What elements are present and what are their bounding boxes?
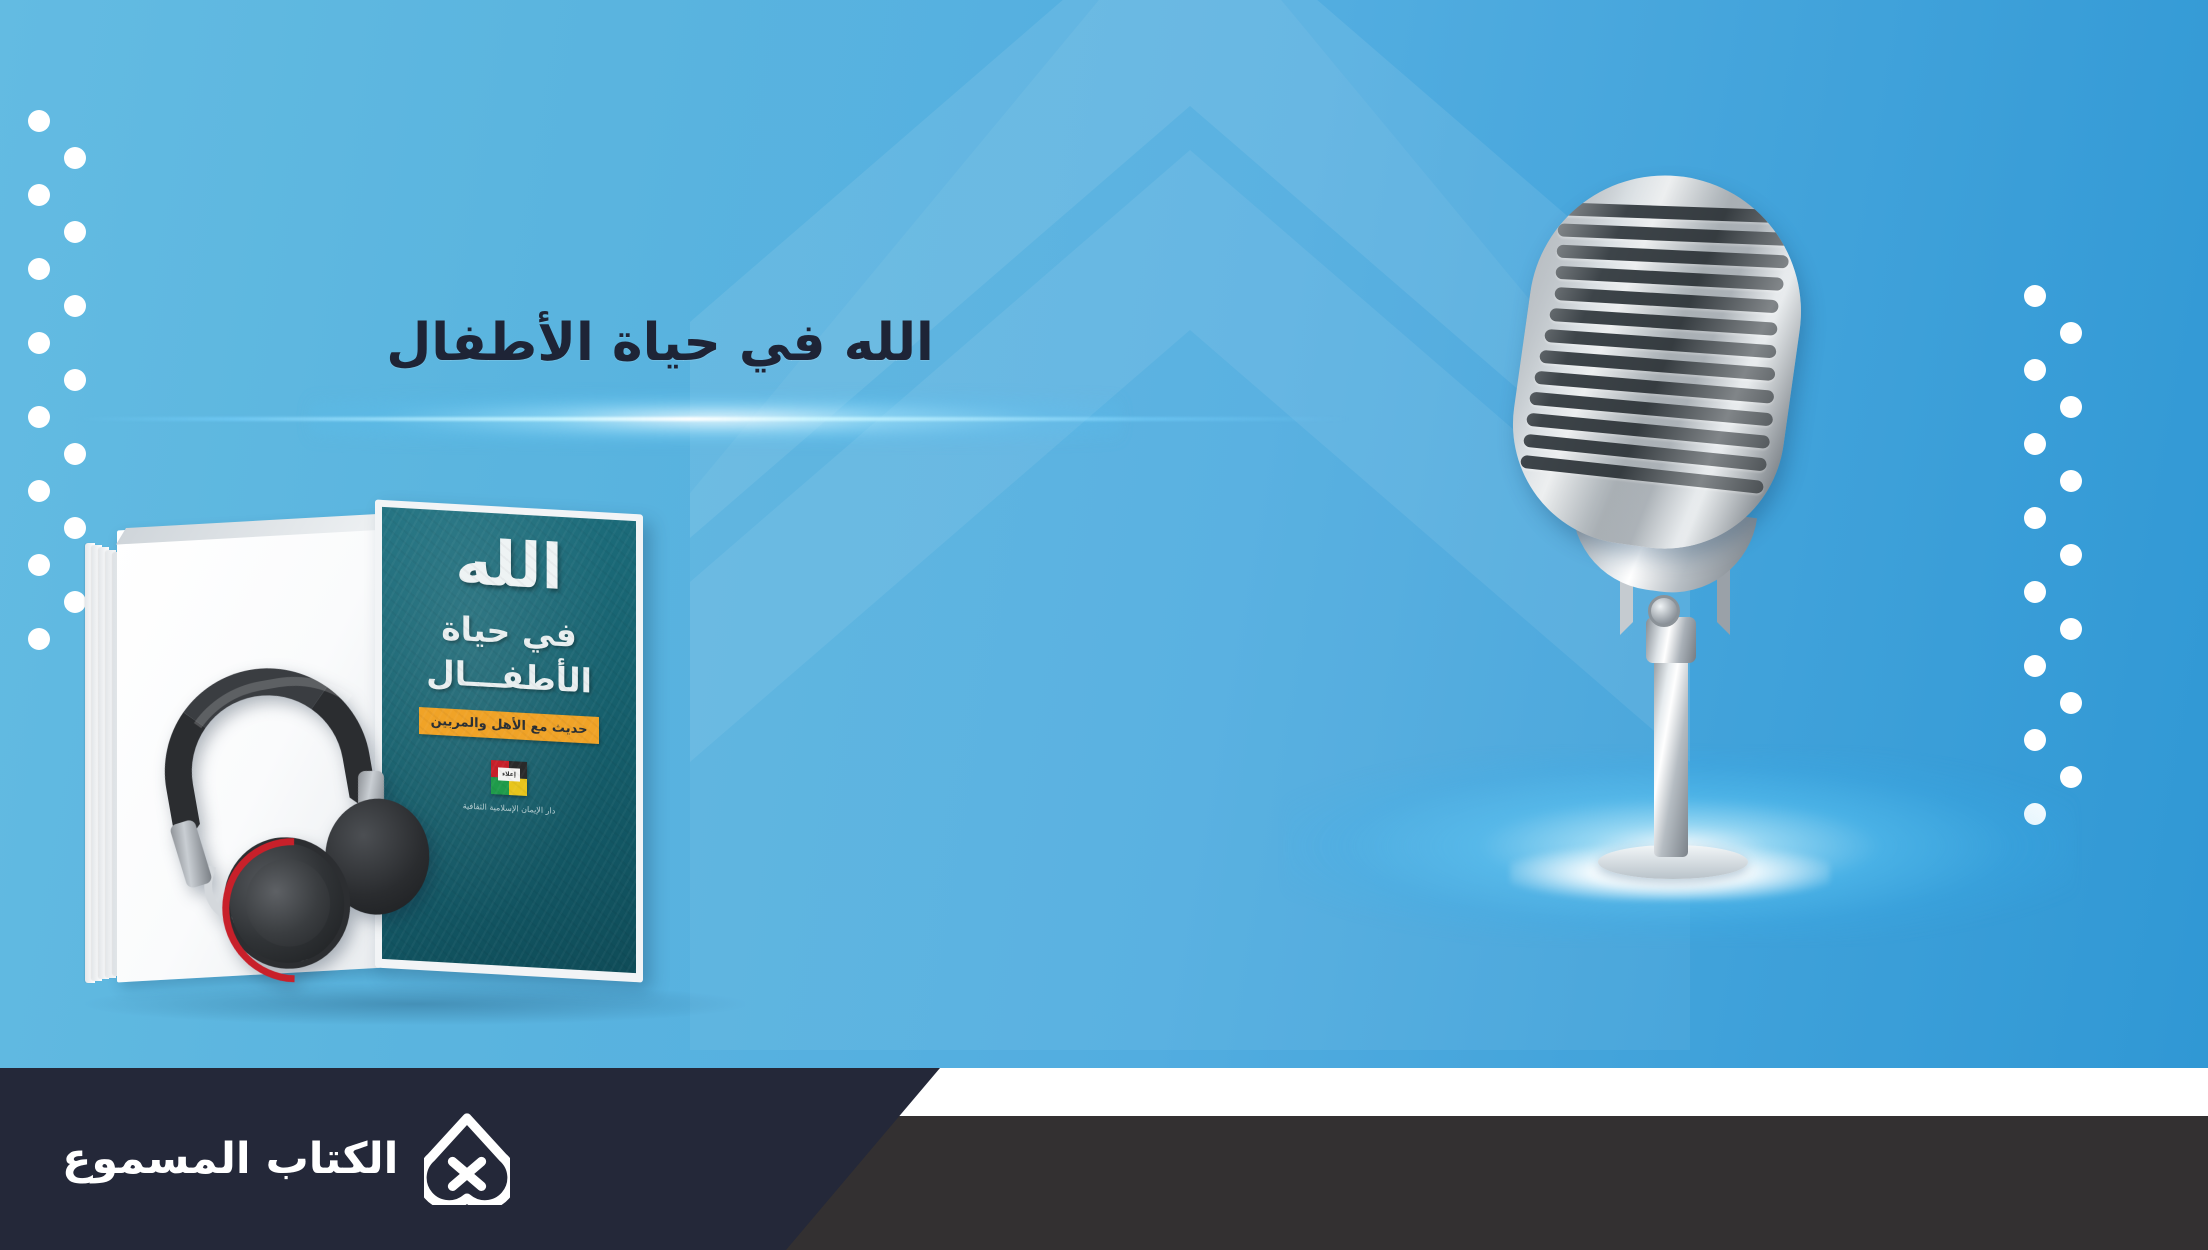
decorative-dot — [2060, 396, 2082, 418]
decorative-dot — [28, 406, 50, 428]
decorative-dot — [28, 184, 50, 206]
footer-bar: الكتاب المسموع — [0, 1068, 2208, 1250]
cover-title-line2: في حياة — [441, 608, 577, 655]
decorative-dot — [64, 295, 86, 317]
publisher-logo-icon: إعلاء — [491, 760, 527, 796]
decorative-dot — [2060, 618, 2082, 640]
book-drop-shadow — [85, 983, 745, 1025]
decorative-dot — [2060, 692, 2082, 714]
decorative-dot — [64, 221, 86, 243]
decorative-dot — [2024, 359, 2046, 381]
decorative-dot — [2024, 655, 2046, 677]
decorative-dot — [2024, 581, 2046, 603]
decorative-dots-right — [2024, 285, 2084, 555]
decorative-dot — [2060, 470, 2082, 492]
decorative-dot — [2024, 285, 2046, 307]
cover-title-line3: الأطفـــال — [426, 652, 592, 700]
decorative-dot — [28, 110, 50, 132]
publisher-name: دار الإيمان الإسلامية الثقافية — [463, 801, 556, 815]
hero-title: الله في حياة الأطفال — [0, 315, 1320, 372]
microphone-grille-bar — [1555, 266, 1783, 291]
decorative-dot — [2024, 507, 2046, 529]
decorative-dot — [28, 480, 50, 502]
hero-title-container: الله في حياة الأطفال — [0, 315, 1320, 372]
microphone-grille — [1517, 190, 1800, 521]
book-scene: الله في حياة الأطفـــال حديث مع الأهل وا… — [75, 515, 755, 1015]
cover-title-main: الله — [455, 531, 562, 599]
brand-lockup[interactable]: الكتاب المسموع — [62, 1068, 510, 1250]
light-streak-bar — [80, 417, 1350, 421]
decorative-dot — [2024, 433, 2046, 455]
microphone-adjust-knob — [1648, 595, 1680, 627]
light-streak-glow — [309, 395, 1122, 443]
microphone-grille-bar — [1559, 202, 1799, 223]
decorative-dot — [2060, 322, 2082, 344]
microphone-grille-bar — [1554, 287, 1778, 313]
decorative-dot — [2024, 729, 2046, 751]
decorative-dot — [28, 628, 50, 650]
decorative-dot — [64, 147, 86, 169]
cover-subtitle: حديث مع الأهل والمربين — [419, 707, 600, 744]
decorative-dot — [2060, 544, 2082, 566]
decorative-dot — [64, 369, 86, 391]
publisher-logo-label: إعلاء — [498, 767, 520, 781]
microphone-grille-bar — [1558, 223, 1794, 246]
microphone-head — [1497, 158, 1818, 564]
headphones-icon — [143, 645, 438, 964]
light-streak — [80, 408, 1350, 430]
brand-name: الكتاب المسموع — [62, 1134, 398, 1184]
audiobook-heart-logo-icon — [424, 1113, 510, 1205]
microphone-grille-bar — [1557, 245, 1789, 269]
decorative-dot — [28, 258, 50, 280]
decorative-dot — [28, 554, 50, 576]
microphone-pole — [1654, 647, 1688, 857]
decorative-dot — [64, 443, 86, 465]
banner-stage: الله في حياة الأطفال الله في حياة الأطفـ… — [0, 0, 2208, 1250]
microphone-scene — [1470, 175, 1890, 935]
